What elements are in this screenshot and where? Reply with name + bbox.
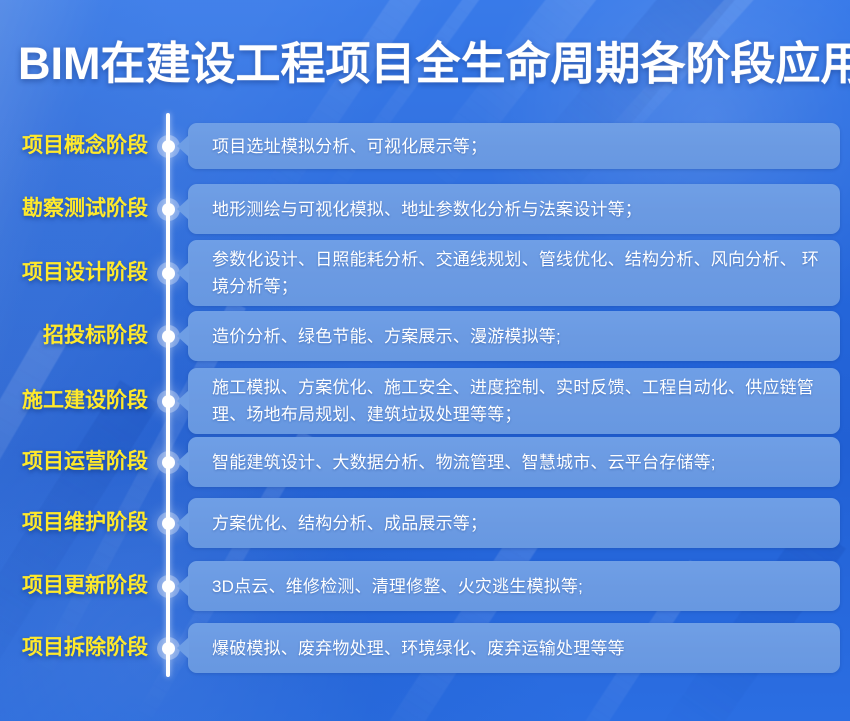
timeline-dot-3 bbox=[162, 267, 175, 280]
stage-card-text-1: 项目选址模拟分析、可视化展示等； bbox=[188, 133, 503, 160]
timeline-row: 项目设计阶段 参数化设计、日照能耗分析、交通线规划、管线优化、结构分析、风向分析… bbox=[0, 240, 850, 306]
stage-card-4[interactable]: 造价分析、绿色节能、方案展示、漫游模拟等; bbox=[188, 311, 840, 361]
timeline-row: 施工建设阶段 施工模拟、方案优化、施工安全、进度控制、实时反馈、工程自动化、供应… bbox=[0, 368, 850, 434]
stage-card-text-3: 参数化设计、日照能耗分析、交通线规划、管线优化、结构分析、风向分析、 环境分析等… bbox=[188, 246, 840, 300]
timeline-row: 项目更新阶段 3D点云、维修检测、清理修整、火灾逃生模拟等; bbox=[0, 561, 850, 611]
bim-lifecycle-poster: BIM在建设工程项目全生命周期各阶段应用 项目概念阶段 项目选址模拟分析、可视化… bbox=[0, 0, 850, 721]
stage-card-text-8: 3D点云、维修检测、清理修整、火灾逃生模拟等; bbox=[188, 573, 599, 600]
stage-card-3[interactable]: 参数化设计、日照能耗分析、交通线规划、管线优化、结构分析、风向分析、 环境分析等… bbox=[188, 240, 840, 306]
timeline-dot-8 bbox=[162, 580, 175, 593]
timeline-dot-2 bbox=[162, 203, 175, 216]
timeline-row: 项目运营阶段 智能建筑设计、大数据分析、物流管理、智慧城市、云平台存储等; bbox=[0, 437, 850, 487]
stage-label-4: 招投标阶段 bbox=[0, 323, 148, 349]
timeline-stage-list: 项目概念阶段 项目选址模拟分析、可视化展示等； 勘察测试阶段 地形测绘与可视化模… bbox=[0, 0, 850, 721]
stage-card-text-7: 方案优化、结构分析、成品展示等； bbox=[188, 510, 503, 537]
stage-card-2[interactable]: 地形测绘与可视化模拟、地址参数化分析与法案设计等； bbox=[188, 184, 840, 234]
timeline-dot-6 bbox=[162, 456, 175, 469]
stage-label-5: 施工建设阶段 bbox=[0, 388, 148, 414]
stage-card-5[interactable]: 施工模拟、方案优化、施工安全、进度控制、实时反馈、工程自动化、供应链管理、场地布… bbox=[188, 368, 840, 434]
stage-card-9[interactable]: 爆破模拟、废弃物处理、环境绿化、废弃运输处理等等 bbox=[188, 623, 840, 673]
stage-label-7: 项目维护阶段 bbox=[0, 510, 148, 536]
stage-label-1: 项目概念阶段 bbox=[0, 133, 148, 159]
timeline-dot-5 bbox=[162, 395, 175, 408]
stage-card-7[interactable]: 方案优化、结构分析、成品展示等； bbox=[188, 498, 840, 548]
stage-label-6: 项目运营阶段 bbox=[0, 449, 148, 475]
timeline-row: 招投标阶段 造价分析、绿色节能、方案展示、漫游模拟等; bbox=[0, 311, 850, 361]
timeline-dot-9 bbox=[162, 642, 175, 655]
timeline-dot-7 bbox=[162, 517, 175, 530]
stage-card-text-2: 地形测绘与可视化模拟、地址参数化分析与法案设计等； bbox=[188, 196, 658, 223]
stage-card-text-5: 施工模拟、方案优化、施工安全、进度控制、实时反馈、工程自动化、供应链管理、场地布… bbox=[188, 374, 840, 428]
stage-card-8[interactable]: 3D点云、维修检测、清理修整、火灾逃生模拟等; bbox=[188, 561, 840, 611]
stage-label-8: 项目更新阶段 bbox=[0, 573, 148, 599]
timeline-row: 项目拆除阶段 爆破模拟、废弃物处理、环境绿化、废弃运输处理等等 bbox=[0, 623, 850, 673]
stage-card-6[interactable]: 智能建筑设计、大数据分析、物流管理、智慧城市、云平台存储等; bbox=[188, 437, 840, 487]
stage-label-3: 项目设计阶段 bbox=[0, 260, 148, 286]
timeline-dot-1 bbox=[162, 140, 175, 153]
timeline-row: 项目维护阶段 方案优化、结构分析、成品展示等； bbox=[0, 498, 850, 548]
stage-label-2: 勘察测试阶段 bbox=[0, 196, 148, 222]
timeline-row: 勘察测试阶段 地形测绘与可视化模拟、地址参数化分析与法案设计等； bbox=[0, 184, 850, 234]
timeline-row: 项目概念阶段 项目选址模拟分析、可视化展示等； bbox=[0, 123, 850, 169]
stage-label-9: 项目拆除阶段 bbox=[0, 635, 148, 661]
stage-card-text-9: 爆破模拟、废弃物处理、环境绿化、废弃运输处理等等 bbox=[188, 635, 641, 662]
stage-card-text-6: 智能建筑设计、大数据分析、物流管理、智慧城市、云平台存储等; bbox=[188, 449, 732, 476]
stage-card-1[interactable]: 项目选址模拟分析、可视化展示等； bbox=[188, 123, 840, 169]
timeline-dot-4 bbox=[162, 330, 175, 343]
stage-card-text-4: 造价分析、绿色节能、方案展示、漫游模拟等; bbox=[188, 323, 577, 350]
